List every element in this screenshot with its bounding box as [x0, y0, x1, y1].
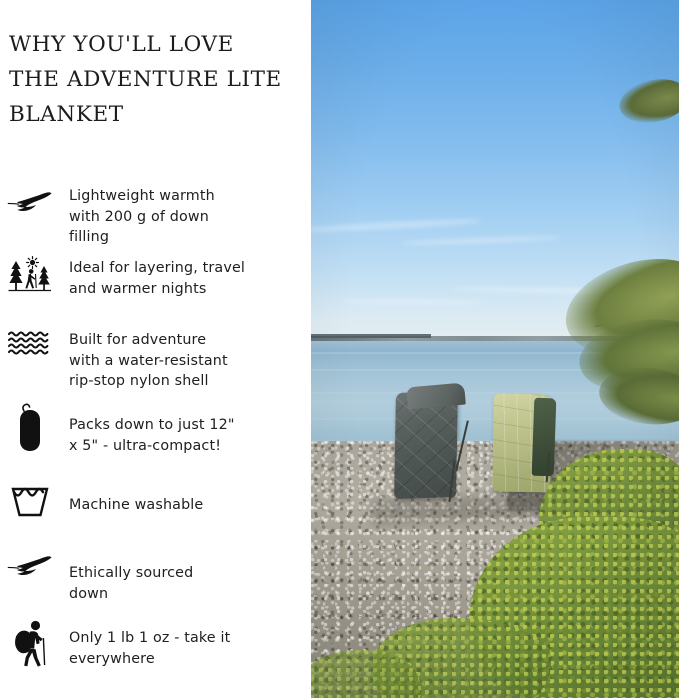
- backpacker-icon: [2, 619, 58, 667]
- features-panel: WHY YOU'LL LOVE THE ADVENTURE LITE BLANK…: [0, 0, 311, 698]
- feature-item-label: Built for adventure with a water-resista…: [69, 330, 297, 392]
- feather-icon: [2, 554, 58, 580]
- green-blanket-shadow-side: [532, 398, 557, 477]
- hiker-trees-sun-icon: [2, 256, 58, 296]
- feature-item-label: Lightweight warmth with 200 g of down fi…: [69, 186, 297, 248]
- feather-icon: [2, 190, 58, 216]
- machine-wash-icon: [2, 485, 58, 519]
- feature-item-label: Packs down to just 12" x 5" - ultra-comp…: [69, 415, 297, 456]
- product-lifestyle-photo: [311, 0, 679, 698]
- feature-item-label: Only 1 lb 1 oz - take it everywhere: [69, 628, 297, 669]
- water-waves-icon: [2, 329, 58, 355]
- stuff-sack-icon: [2, 403, 58, 453]
- feature-item-label: Machine washable: [69, 495, 297, 516]
- distant-shoreline-dark: [311, 334, 431, 338]
- feature-item-label: Ideal for layering, travel and warmer ni…: [69, 258, 297, 299]
- feature-item-label: Ethically sourced down: [69, 563, 297, 604]
- page-title: WHY YOU'LL LOVE THE ADVENTURE LITE BLANK…: [9, 27, 299, 132]
- product-feature-infographic: WHY YOU'LL LOVE THE ADVENTURE LITE BLANK…: [0, 0, 679, 698]
